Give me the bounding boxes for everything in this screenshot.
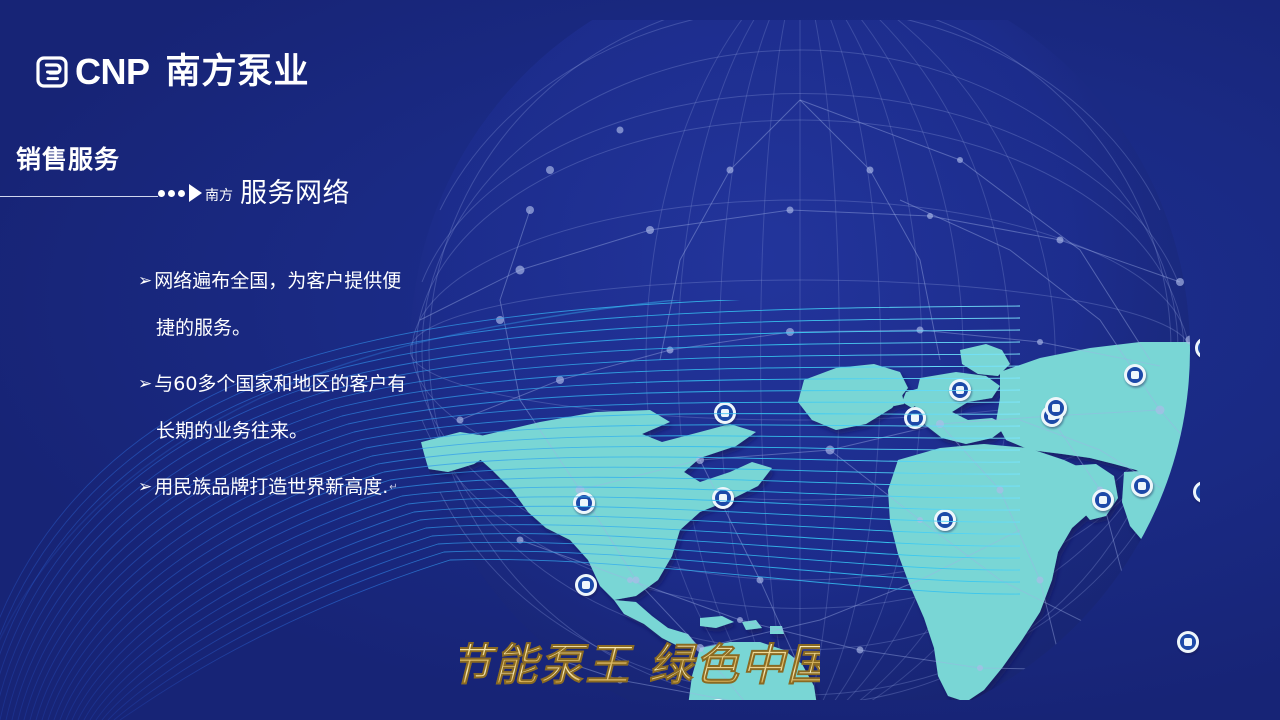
three-dots-icon xyxy=(158,190,185,197)
cnp-monogram-icon xyxy=(36,56,68,88)
bullet-marker: ➢ xyxy=(138,361,152,408)
cnp-location-pin-icon[interactable] xyxy=(1092,489,1114,511)
cnp-location-pin-icon[interactable] xyxy=(1193,481,1200,503)
cnp-location-pin-icon[interactable] xyxy=(1195,337,1200,359)
subtitle-brand: 南方 xyxy=(205,189,233,203)
bullet-marker: ➢ xyxy=(138,464,152,511)
cnp-location-pin-icon[interactable] xyxy=(949,379,971,401)
bullet-list: ➢ 网络遍布全国，为客户提供便 捷的服务。 ➢ 与60多个国家和地区的客户有 长… xyxy=(138,258,458,530)
title-divider xyxy=(0,196,158,197)
cnp-location-pin-icon[interactable] xyxy=(575,574,597,596)
paragraph-mark: ↵ xyxy=(388,464,397,521)
cnp-location-pin-icon[interactable] xyxy=(573,492,595,514)
world-service-network-map xyxy=(400,20,1200,700)
slide-root: CNP 南方泵业 销售服务 南方 服务网络 ➢ 网络遍布全国，为客户提供便 捷的… xyxy=(0,0,1280,720)
cnp-location-pin-icon[interactable] xyxy=(1045,397,1067,419)
bullet-text-line: 网络遍布全国，为客户提供便 xyxy=(154,258,401,305)
cnp-location-pin-icon[interactable] xyxy=(904,407,926,429)
list-item: ➢ 与60多个国家和地区的客户有 长期的业务往来。 xyxy=(138,361,458,455)
list-item: ➢ 用民族品牌打造世界新高度. ↵ xyxy=(138,464,458,521)
cnp-location-pin-icon[interactable] xyxy=(714,402,736,424)
bullet-text-line: 长期的业务往来。 xyxy=(156,408,308,455)
cnp-location-pin-icon[interactable] xyxy=(1124,364,1146,386)
cnp-location-pin-icon[interactable] xyxy=(712,487,734,509)
globe-svg xyxy=(400,20,1200,700)
logo-latin-text: CNP xyxy=(75,54,150,90)
cnp-location-pin-icon[interactable] xyxy=(934,509,956,531)
page-title: 销售服务 xyxy=(16,140,120,176)
bullet-text-line: 捷的服务。 xyxy=(156,305,251,352)
triangle-right-icon xyxy=(189,184,202,202)
subtitle-row: 南方 服务网络 xyxy=(158,176,350,210)
list-item: ➢ 网络遍布全国，为客户提供便 捷的服务。 xyxy=(138,258,458,352)
cnp-location-pin-icon[interactable] xyxy=(1131,475,1153,497)
bullet-text-line: 用民族品牌打造世界新高度. xyxy=(154,464,388,511)
bullet-text-line: 与60多个国家和地区的客户有 xyxy=(154,361,406,408)
subtitle-main: 服务网络 xyxy=(240,180,350,207)
cnp-location-pin-icon[interactable] xyxy=(1177,631,1199,653)
logo-chinese-text: 南方泵业 xyxy=(166,55,310,90)
bullet-marker: ➢ xyxy=(138,258,152,305)
brand-logo[interactable]: CNP 南方泵业 xyxy=(36,54,310,90)
